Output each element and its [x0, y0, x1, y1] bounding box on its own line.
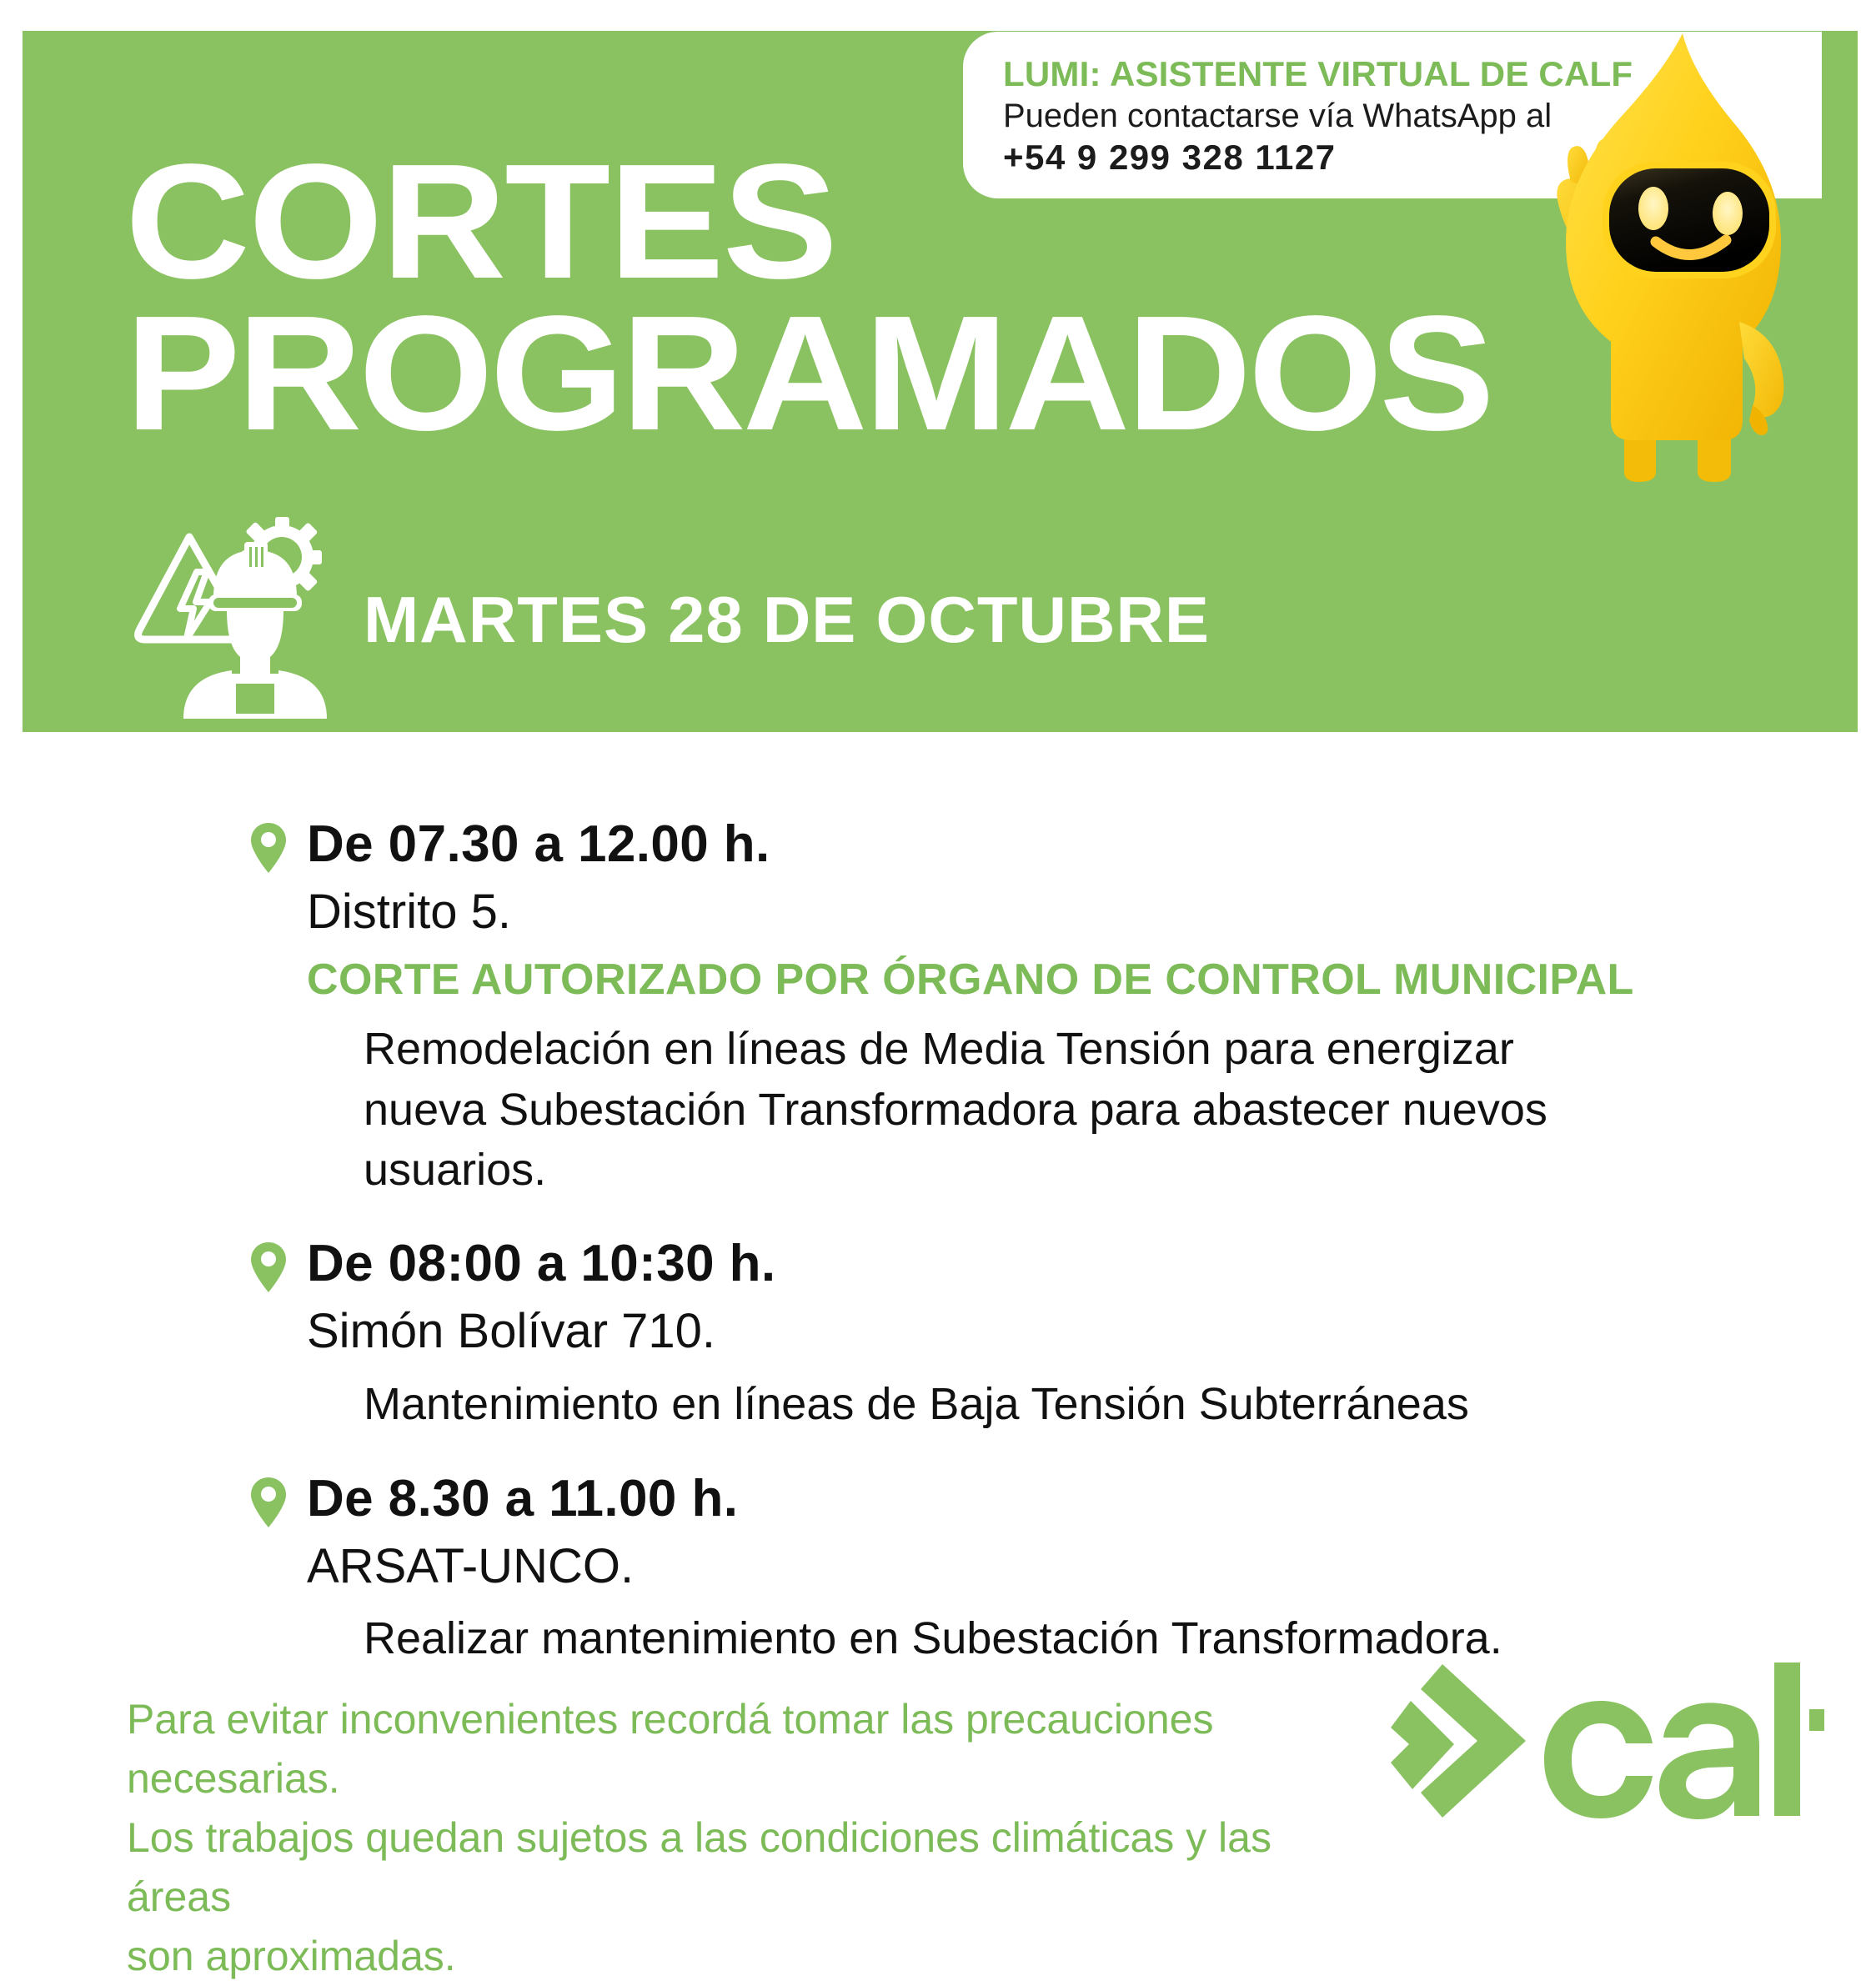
footer-line-2: Los trabajos quedan sujetos a las condic…: [127, 1808, 1311, 1927]
outage-header: De 07.30 a 12.00 h.: [250, 817, 1684, 874]
lumi-card-subtitle: Pueden contactarse vía WhatsApp al: [1003, 98, 1788, 135]
lumi-card-title: LUMI: ASISTENTE VIRTUAL DE CALF: [1003, 55, 1788, 93]
outage-location: Simón Bolívar 710.: [307, 1305, 1684, 1359]
outage-time: De 8.30 a 11.00 h.: [307, 1472, 738, 1526]
outage-description: Mantenimiento en líneas de Baja Tensión …: [364, 1374, 1631, 1434]
footer-disclaimer: Para evitar inconvenientes recordá tomar…: [127, 1690, 1311, 1986]
outage-header: De 8.30 a 11.00 h.: [250, 1472, 1684, 1528]
map-pin-icon: [250, 1241, 287, 1293]
outage-authorization-note: CORTE AUTORIZADO POR ÓRGANO DE CONTROL M…: [307, 956, 1684, 1004]
outage-entry: De 07.30 a 12.00 h. Distrito 5. CORTE AU…: [250, 817, 1684, 1200]
footer-line-1: Para evitar inconvenientes recordá tomar…: [127, 1690, 1311, 1808]
electrical-hazard-worker-icon: [133, 510, 334, 719]
outage-description: Remodelación en líneas de Media Tensión …: [364, 1019, 1631, 1200]
footer-line-3: son aproximadas.: [127, 1927, 1311, 1986]
outage-time: De 08:00 a 10:30 h.: [307, 1236, 775, 1291]
date-row: MARTES 28 DE OCTUBRE: [133, 510, 1193, 719]
map-pin-icon: [250, 822, 287, 874]
outage-entry: De 08:00 a 10:30 h. Simón Bolívar 710. M…: [250, 1236, 1684, 1434]
outage-location: Distrito 5.: [307, 885, 1684, 940]
outage-date: MARTES 28 DE OCTUBRE: [364, 582, 1210, 658]
page-title-line-2: PROGRAMADOS: [125, 298, 1492, 449]
outage-list: De 07.30 a 12.00 h. Distrito 5. CORTE AU…: [250, 817, 1684, 1691]
outage-location: ARSAT-UNCO.: [307, 1540, 1684, 1594]
outage-entry: De 8.30 a 11.00 h. ARSAT-UNCO. Realizar …: [250, 1472, 1684, 1669]
calf-logo: [1391, 1651, 1824, 1822]
lumi-whatsapp-phone: +54 9 299 328 1127: [1003, 138, 1788, 177]
map-pin-icon: [250, 1477, 287, 1528]
outage-header: De 08:00 a 10:30 h.: [250, 1236, 1684, 1293]
outage-time: De 07.30 a 12.00 h.: [307, 817, 770, 871]
lumi-contact-card: LUMI: ASISTENTE VIRTUAL DE CALF Pueden c…: [963, 32, 1822, 198]
